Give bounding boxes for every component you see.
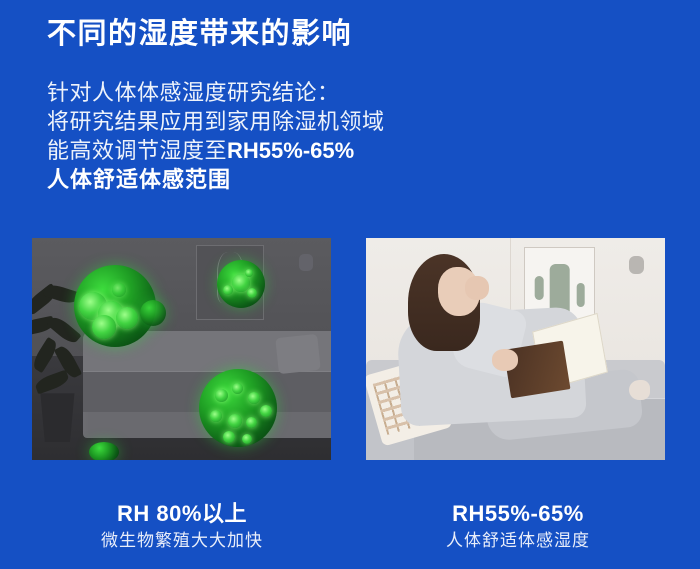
- bright-room-scene: [366, 238, 665, 460]
- body-line-4: 人体舒适体感范围: [47, 165, 467, 194]
- person-hand-at-head: [465, 276, 489, 300]
- person-hand-holding-book: [492, 349, 519, 371]
- body-line-1: 针对人体体感湿度研究结论：: [47, 78, 467, 107]
- photo-high-humidity: [32, 238, 331, 460]
- body-copy-block: 针对人体体感湿度研究结论： 将研究结果应用到家用除湿机领域 能高效调节湿度至RH…: [47, 78, 467, 194]
- body-line-3-prefix: 能高效调节湿度至: [47, 138, 227, 163]
- caption-title-left: RH 80%以上: [17, 500, 347, 528]
- wall-knob: [299, 254, 313, 271]
- photo-comfort-humidity: [366, 238, 665, 460]
- microbe-small-edge: [140, 300, 166, 326]
- dim-room-scene: [32, 238, 331, 460]
- caption-title-right: RH55%-65%: [353, 500, 683, 528]
- caption-comfort-humidity: RH55%-65% 人体舒适体感湿度: [353, 500, 683, 554]
- body-line-2: 将研究结果应用到家用除湿机领域: [47, 107, 467, 136]
- microbe-cluster-lower-right: [199, 369, 277, 447]
- body-line-3: 能高效调节湿度至RH55%-65%: [47, 136, 467, 165]
- caption-high-humidity: RH 80%以上 微生物繁殖大大加快: [17, 500, 347, 554]
- dim-cushion: [275, 334, 320, 374]
- humidity-poster: 不同的湿度带来的影响 针对人体体感湿度研究结论： 将研究结果应用到家用除湿机领域…: [0, 0, 700, 569]
- humidity-range-highlight: RH55%-65%: [227, 138, 354, 163]
- caption-subtitle-right: 人体舒适体感湿度: [353, 528, 683, 554]
- page-title: 不同的湿度带来的影响: [47, 14, 352, 54]
- wall-knob: [629, 256, 644, 274]
- person-foot: [629, 380, 650, 400]
- microbe-small-floor: [89, 442, 119, 460]
- caption-subtitle-left: 微生物繁殖大大加快: [17, 528, 347, 554]
